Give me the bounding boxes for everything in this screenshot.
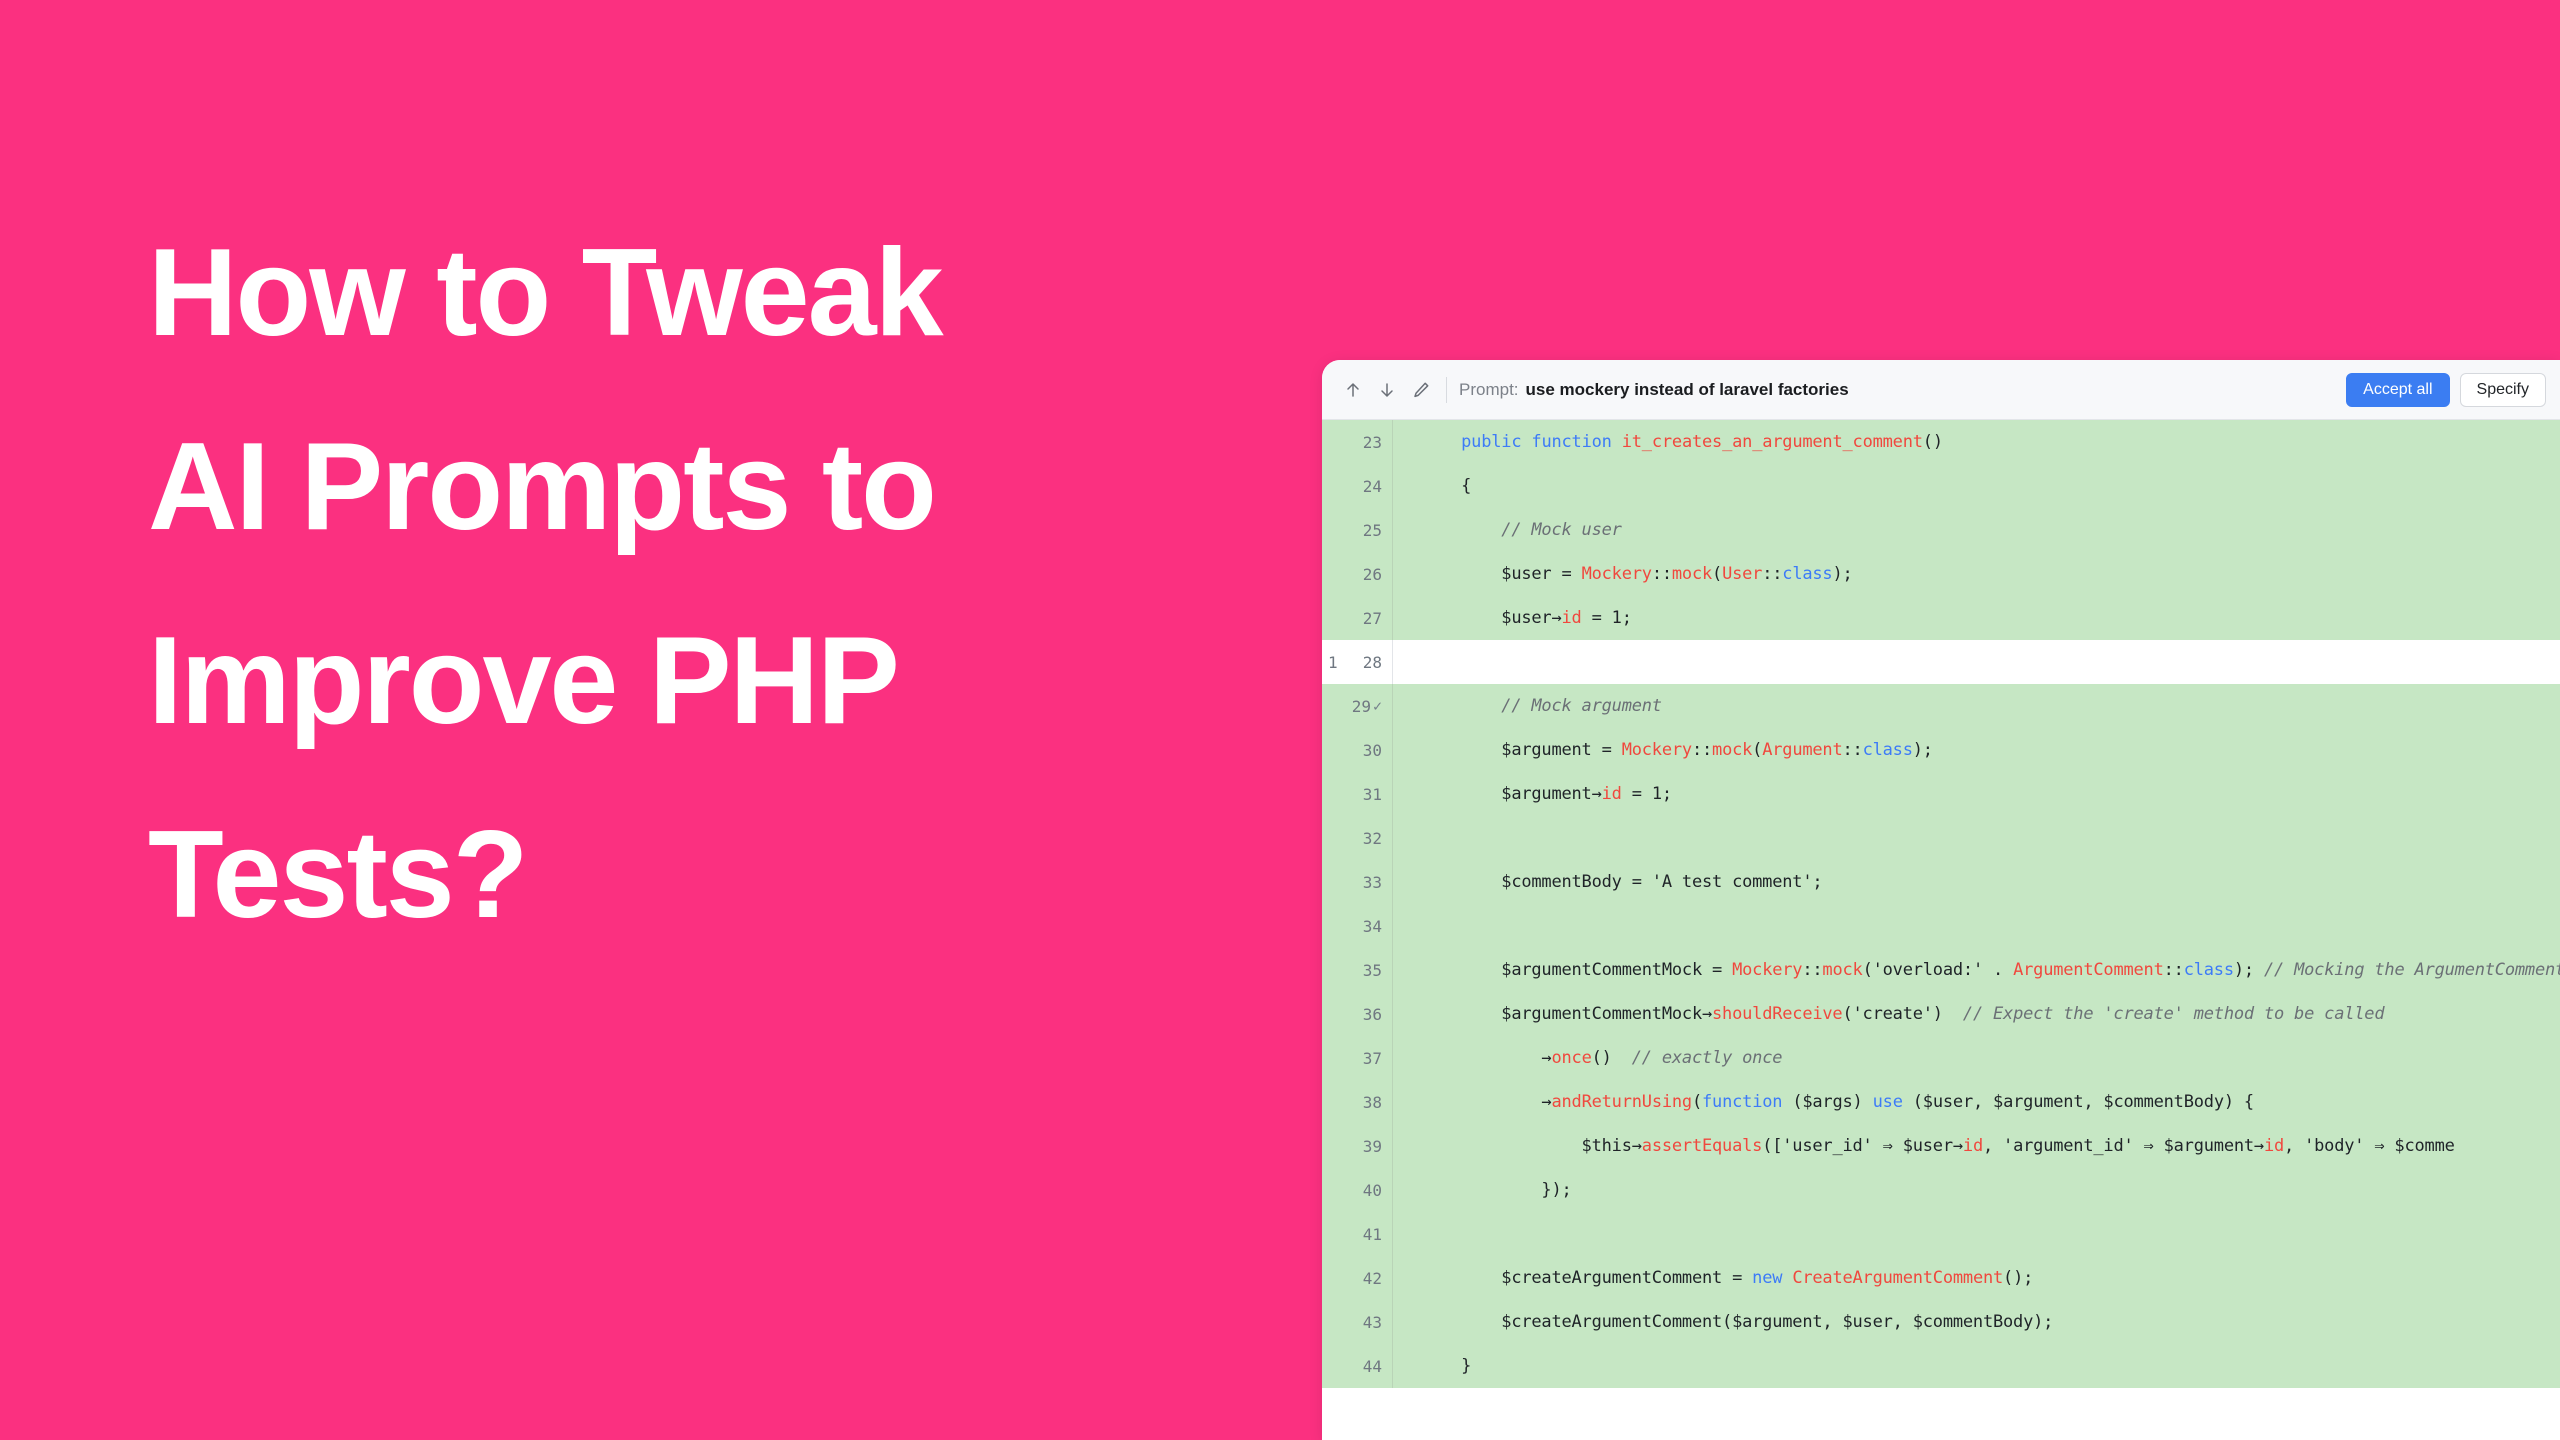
code-token: $argument = <box>1421 740 1622 760</box>
code-token: $commentBody = 'A test comment'; <box>1421 872 1822 892</box>
line-number: 24 <box>1363 477 1382 496</box>
code-token: Mockery <box>1622 740 1692 760</box>
diff-toolbar: Prompt: use mockery instead of laravel f… <box>1322 360 2560 420</box>
pencil-icon[interactable] <box>1404 373 1438 407</box>
code-token: :: <box>1802 960 1822 980</box>
ai-diff-panel: Prompt: use mockery instead of laravel f… <box>1322 360 2560 1440</box>
code-line[interactable]: $argumentCommentMock→shouldReceive('crea… <box>1393 992 2560 1036</box>
code-token: ( <box>1692 1092 1702 1112</box>
code-token: mock <box>1822 960 1862 980</box>
code-line[interactable]: →andReturnUsing(function ($args) use ($u… <box>1393 1080 2560 1124</box>
specify-button[interactable]: Specify <box>2460 373 2546 407</box>
line-number: 39 <box>1363 1137 1382 1156</box>
arrow-up-icon[interactable] <box>1336 373 1370 407</box>
diff-row[interactable]: 41 <box>1322 1212 2560 1256</box>
diff-row[interactable]: 23 public function it_creates_an_argumen… <box>1322 420 2560 464</box>
code-token: }); <box>1421 1180 1572 1200</box>
line-number: 35 <box>1363 961 1382 980</box>
code-token: :: <box>1843 740 1863 760</box>
code-token: ); <box>2234 960 2264 980</box>
diff-row[interactable]: 40 }); <box>1322 1168 2560 1212</box>
line-number-gutter: 33 <box>1322 860 1392 904</box>
line-number: 42 <box>1363 1269 1382 1288</box>
diff-row[interactable]: 30 $argument = Mockery::mock(Argument::c… <box>1322 728 2560 772</box>
line-number: 40 <box>1363 1181 1382 1200</box>
line-number-gutter: 31 <box>1322 772 1392 816</box>
code-token: $argument→ <box>1421 784 1602 804</box>
diff-row[interactable]: 42 $createArgumentComment = new CreateAr… <box>1322 1256 2560 1300</box>
page-title-line-2: AI Prompts to <box>148 390 1328 584</box>
code-token: id <box>1602 784 1622 804</box>
line-number-gutter: 38 <box>1322 1080 1392 1124</box>
code-token: $createArgumentComment($argument, $user,… <box>1421 1312 2053 1332</box>
diff-row[interactable]: 33 $commentBody = 'A test comment'; <box>1322 860 2560 904</box>
line-number-gutter: 39 <box>1322 1124 1392 1168</box>
code-token: class <box>1782 564 1832 584</box>
diff-row[interactable]: 38 →andReturnUsing(function ($args) use … <box>1322 1080 2560 1124</box>
toolbar-divider <box>1446 377 1447 403</box>
code-token: , 'body' ⇒ $comme <box>2284 1136 2455 1156</box>
code-token <box>1421 432 1461 452</box>
check-icon[interactable]: ✓ <box>1373 697 1382 715</box>
code-token: // Expect the 'create' method to be call… <box>1963 1004 2384 1024</box>
line-number: 36 <box>1363 1005 1382 1024</box>
code-line[interactable]: $this→assertEquals(['user_id' ⇒ $user→id… <box>1393 1124 2560 1168</box>
line-number-gutter: 25 <box>1322 508 1392 552</box>
code-token: mock <box>1712 740 1752 760</box>
diff-row[interactable]: 32 <box>1322 816 2560 860</box>
diff-row[interactable]: 26 $user = Mockery::mock(User::class); <box>1322 552 2560 596</box>
line-number-gutter: 43 <box>1322 1300 1392 1344</box>
code-token: } <box>1421 1356 1471 1376</box>
diff-row[interactable]: 39 $this→assertEquals(['user_id' ⇒ $user… <box>1322 1124 2560 1168</box>
line-number: 44 <box>1363 1357 1382 1376</box>
diff-row[interactable]: 43 $createArgumentComment($argument, $us… <box>1322 1300 2560 1344</box>
line-number-gutter: 35 <box>1322 948 1392 992</box>
code-token <box>1521 432 1531 452</box>
code-token: public <box>1461 432 1521 452</box>
code-line[interactable]: $createArgumentComment($argument, $user,… <box>1393 1300 2560 1344</box>
code-token: → <box>1421 1048 1551 1068</box>
line-number-gutter: 26 <box>1322 552 1392 596</box>
code-line[interactable]: // Mock argument <box>1393 684 2560 728</box>
code-line[interactable]: } <box>1393 1344 2560 1388</box>
line-number: 26 <box>1363 565 1382 584</box>
code-line[interactable]: $argumentCommentMock = Mockery::mock('ov… <box>1393 948 2560 992</box>
code-token: ArgumentComment <box>2013 960 2164 980</box>
code-token: $argumentCommentMock = <box>1421 960 1732 980</box>
code-token: ); <box>1832 564 1852 584</box>
code-token: $user→ <box>1421 608 1562 628</box>
code-token: { <box>1421 476 1471 496</box>
code-token: = 1; <box>1622 784 1672 804</box>
line-number: 23 <box>1363 433 1382 452</box>
code-token: ( <box>1752 740 1762 760</box>
code-token: $this→ <box>1421 1136 1642 1156</box>
code-token: = 1; <box>1582 608 1632 628</box>
page-title-line-1: How to Tweak <box>148 196 1328 390</box>
code-token: $user = <box>1421 564 1582 584</box>
diff-row[interactable]: 44 } <box>1322 1344 2560 1388</box>
diff-code-area[interactable]: 23 public function it_creates_an_argumen… <box>1322 420 2560 1440</box>
line-number-gutter: 44 <box>1322 1344 1392 1388</box>
code-line[interactable]: $argument→id = 1; <box>1393 772 2560 816</box>
code-token: new <box>1752 1268 1782 1288</box>
code-token: :: <box>1692 740 1712 760</box>
line-number: 43 <box>1363 1313 1382 1332</box>
code-line[interactable]: $createArgumentComment = new CreateArgum… <box>1393 1256 2560 1300</box>
code-token: (); <box>2003 1268 2033 1288</box>
line-number-gutter: 30 <box>1322 728 1392 772</box>
code-line[interactable]: $user = Mockery::mock(User::class); <box>1393 552 2560 596</box>
code-token: // Mocking the ArgumentComment <box>2264 960 2560 980</box>
diff-row[interactable]: 128 <box>1322 640 2560 684</box>
code-line[interactable] <box>1393 1212 2560 1256</box>
code-token: $argumentCommentMock→ <box>1421 1004 1712 1024</box>
line-number: 30 <box>1363 741 1382 760</box>
line-number: 33 <box>1363 873 1382 892</box>
page-title-line-3: Improve PHP <box>148 584 1328 778</box>
line-number: 31 <box>1363 785 1382 804</box>
code-token: CreateArgumentComment <box>1792 1268 2003 1288</box>
diff-row[interactable]: 36 $argumentCommentMock→shouldReceive('c… <box>1322 992 2560 1036</box>
accept-all-button[interactable]: Accept all <box>2346 373 2449 407</box>
line-number: 27 <box>1363 609 1382 628</box>
page-title: How to Tweak AI Prompts to Improve PHP T… <box>148 196 1328 972</box>
code-token: :: <box>1762 564 1782 584</box>
code-token: id <box>1562 608 1582 628</box>
code-token: id <box>2264 1136 2284 1156</box>
code-token: shouldReceive <box>1712 1004 1842 1024</box>
code-token: User <box>1722 564 1762 584</box>
code-token: // Mock user <box>1421 520 1622 540</box>
code-line[interactable]: // Mock user <box>1393 508 2560 552</box>
code-token: // exactly once <box>1632 1048 1783 1068</box>
prompt-text[interactable]: use mockery instead of laravel factories <box>1526 380 1849 400</box>
code-token: function <box>1702 1092 1782 1112</box>
code-token: Mockery <box>1582 564 1652 584</box>
code-line[interactable]: $argument = Mockery::mock(Argument::clas… <box>1393 728 2560 772</box>
line-number: 34 <box>1363 917 1382 936</box>
diff-row[interactable]: 27 $user→id = 1; <box>1322 596 2560 640</box>
line-number: 32 <box>1363 829 1382 848</box>
arrow-down-icon[interactable] <box>1370 373 1404 407</box>
code-token: andReturnUsing <box>1551 1092 1692 1112</box>
code-token: mock <box>1672 564 1712 584</box>
code-token: Mockery <box>1732 960 1802 980</box>
code-token: ($user, $argument, $commentBody) { <box>1903 1092 2254 1112</box>
line-number-gutter: 41 <box>1322 1212 1392 1256</box>
code-token: function <box>1531 432 1611 452</box>
diff-row[interactable]: 35 $argumentCommentMock = Mockery::mock(… <box>1322 948 2560 992</box>
code-token: ('create') <box>1842 1004 1962 1024</box>
line-number-gutter: 34 <box>1322 904 1392 948</box>
code-token: use <box>1873 1092 1903 1112</box>
diff-row[interactable]: 34 <box>1322 904 2560 948</box>
line-number-gutter: 24 <box>1322 464 1392 508</box>
code-token: ( <box>1712 564 1722 584</box>
line-number-gutter: 23 <box>1322 420 1392 464</box>
diff-row[interactable]: 31 $argument→id = 1; <box>1322 772 2560 816</box>
code-line[interactable]: public function it_creates_an_argument_c… <box>1393 420 2560 464</box>
line-number-gutter: 36 <box>1322 992 1392 1036</box>
line-number-gutter: 42 <box>1322 1256 1392 1300</box>
diff-row[interactable]: 37 →once() // exactly once <box>1322 1036 2560 1080</box>
code-token <box>1782 1268 1792 1288</box>
prompt-display: Prompt: use mockery instead of laravel f… <box>1459 380 2336 400</box>
code-token: ('overload:' . <box>1863 960 2014 980</box>
code-token: class <box>2184 960 2234 980</box>
code-token: :: <box>1652 564 1672 584</box>
line-number: 29 <box>1352 697 1371 716</box>
line-number-gutter: 32 <box>1322 816 1392 860</box>
prompt-label: Prompt: <box>1459 380 1519 400</box>
line-number-gutter: 37 <box>1322 1036 1392 1080</box>
code-line[interactable]: }); <box>1393 1168 2560 1212</box>
code-token: :: <box>2164 960 2184 980</box>
line-number-gutter: 40 <box>1322 1168 1392 1212</box>
code-token: class <box>1863 740 1913 760</box>
screenshot-root: How to Tweak AI Prompts to Improve PHP T… <box>0 0 2560 1440</box>
code-token: Argument <box>1762 740 1842 760</box>
code-token: assertEquals <box>1642 1136 1762 1156</box>
code-line[interactable] <box>1393 904 2560 948</box>
code-token: $createArgumentComment = <box>1421 1268 1752 1288</box>
code-token: , 'argument_id' ⇒ $argument→ <box>1983 1136 2264 1156</box>
page-title-line-4: Tests? <box>148 778 1328 972</box>
diff-row[interactable]: 29✓ // Mock argument <box>1322 684 2560 728</box>
code-token: () <box>1592 1048 1632 1068</box>
code-line[interactable]: $commentBody = 'A test comment'; <box>1393 860 2560 904</box>
code-token: // Mock argument <box>1421 696 1662 716</box>
line-number-gutter: 128 <box>1322 640 1392 684</box>
code-line[interactable] <box>1393 640 2560 684</box>
code-token: ); <box>1913 740 1933 760</box>
line-number: 41 <box>1363 1225 1382 1244</box>
line-number: 28 <box>1363 653 1382 672</box>
code-token <box>1612 432 1622 452</box>
diff-row[interactable]: 25 // Mock user <box>1322 508 2560 552</box>
code-token: ($args) <box>1782 1092 1872 1112</box>
line-number-gutter: 29✓ <box>1322 684 1392 728</box>
line-number: 37 <box>1363 1049 1382 1068</box>
change-count: 1 <box>1328 653 1338 672</box>
code-token: it_creates_an_argument_comment <box>1622 432 1923 452</box>
code-token: (['user_id' ⇒ $user→ <box>1762 1136 1963 1156</box>
code-token: once <box>1551 1048 1591 1068</box>
line-number: 38 <box>1363 1093 1382 1112</box>
diff-row[interactable]: 24 { <box>1322 464 2560 508</box>
code-token: id <box>1963 1136 1983 1156</box>
code-token: → <box>1421 1092 1551 1112</box>
code-line[interactable]: { <box>1393 464 2560 508</box>
code-token: () <box>1923 432 1943 452</box>
line-number-gutter: 27 <box>1322 596 1392 640</box>
code-line[interactable]: $user→id = 1; <box>1393 596 2560 640</box>
line-number: 25 <box>1363 521 1382 540</box>
code-line[interactable]: →once() // exactly once <box>1393 1036 2560 1080</box>
code-line[interactable] <box>1393 816 2560 860</box>
